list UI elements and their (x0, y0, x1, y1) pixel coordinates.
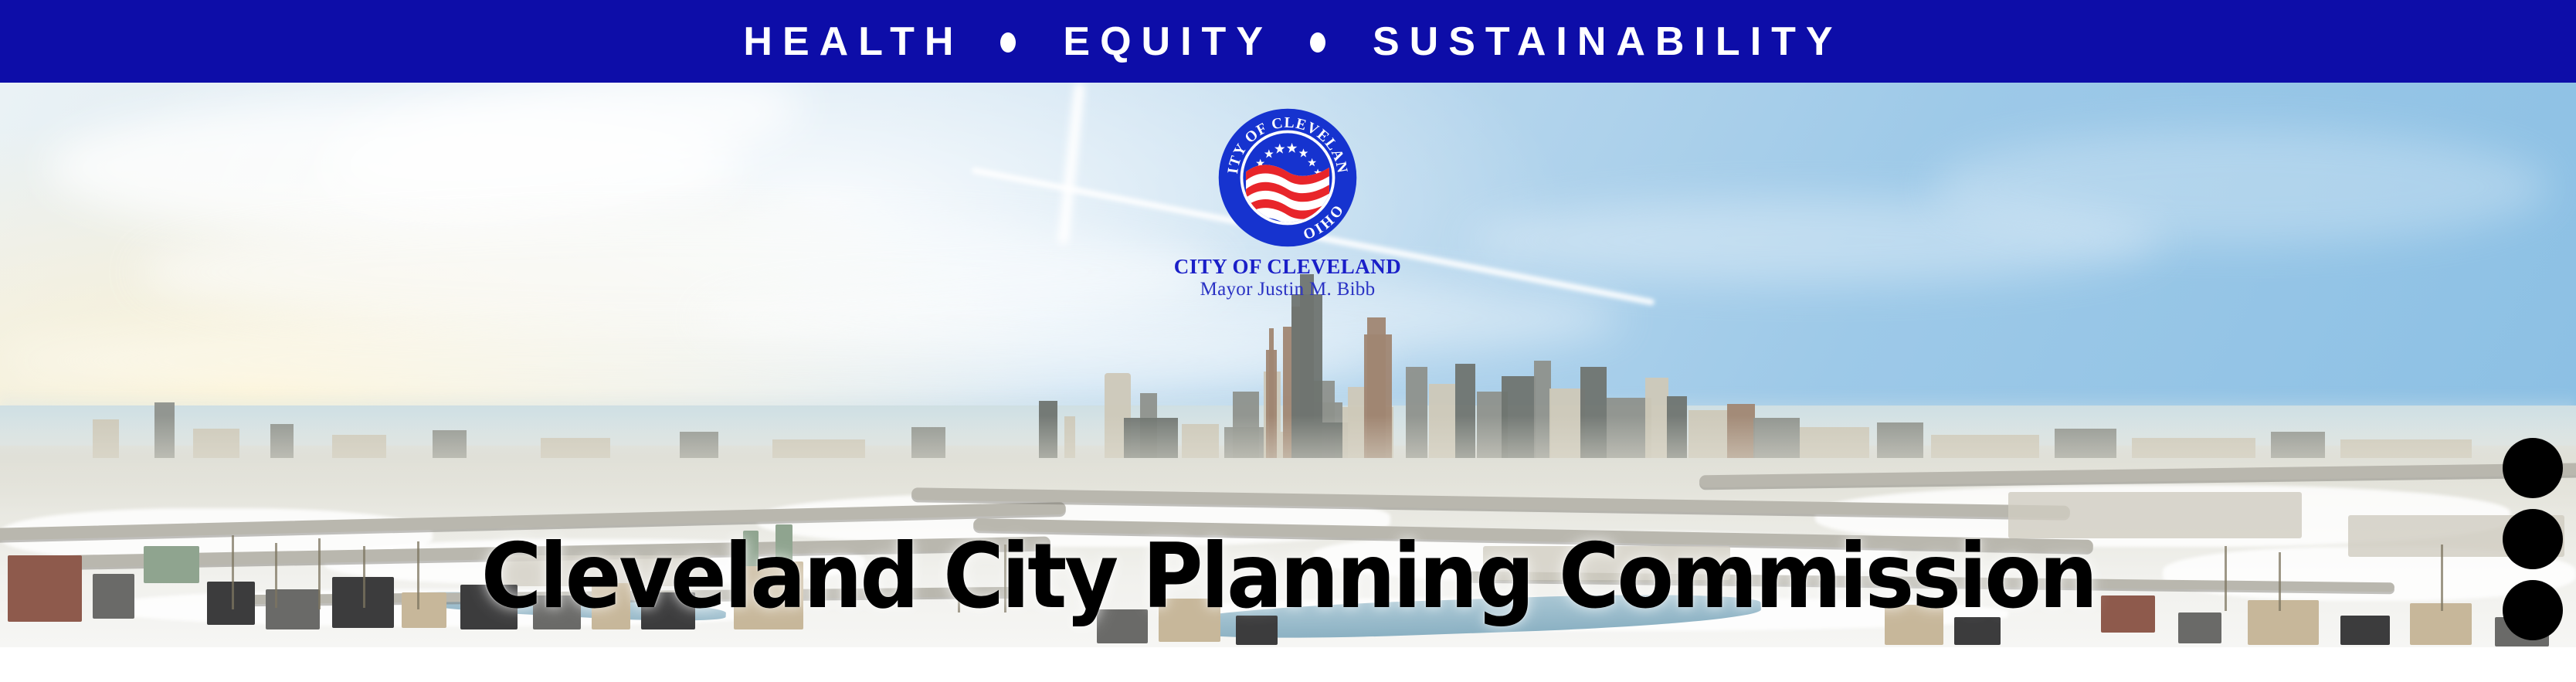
facebook-icon[interactable] (2503, 580, 2563, 640)
bullet-dot-icon (1310, 32, 1325, 53)
city-name-label: CITY OF CLEVELAND (1095, 256, 1481, 277)
city-of-cleveland-seal-icon: CITY OF CLEVELAND OHIO (1216, 106, 1359, 249)
tagline-group: HEALTH EQUITY SUSTAINABILITY (733, 22, 1842, 62)
tagline-equity: EQUITY (1053, 22, 1273, 62)
mayor-name-label: Mayor Justin M. Bibb (1095, 280, 1481, 300)
instagram-icon[interactable] (2503, 509, 2563, 569)
bullet-dot-icon (1000, 32, 1016, 53)
tagline-banner: HEALTH EQUITY SUSTAINABILITY (0, 0, 2576, 83)
tagline-health: HEALTH (733, 22, 963, 62)
city-branding-block: CITY OF CLEVELAND OHIO (1095, 106, 1481, 300)
bottom-white-strip (0, 647, 2576, 682)
youtube-icon[interactable] (2503, 438, 2563, 498)
hero-photo: CITY OF CLEVELAND OHIO (0, 83, 2576, 647)
tagline-sustainability: SUSTAINABILITY (1363, 22, 1843, 62)
social-links (2500, 438, 2565, 640)
page-root: HEALTH EQUITY SUSTAINABILITY (0, 0, 2576, 682)
